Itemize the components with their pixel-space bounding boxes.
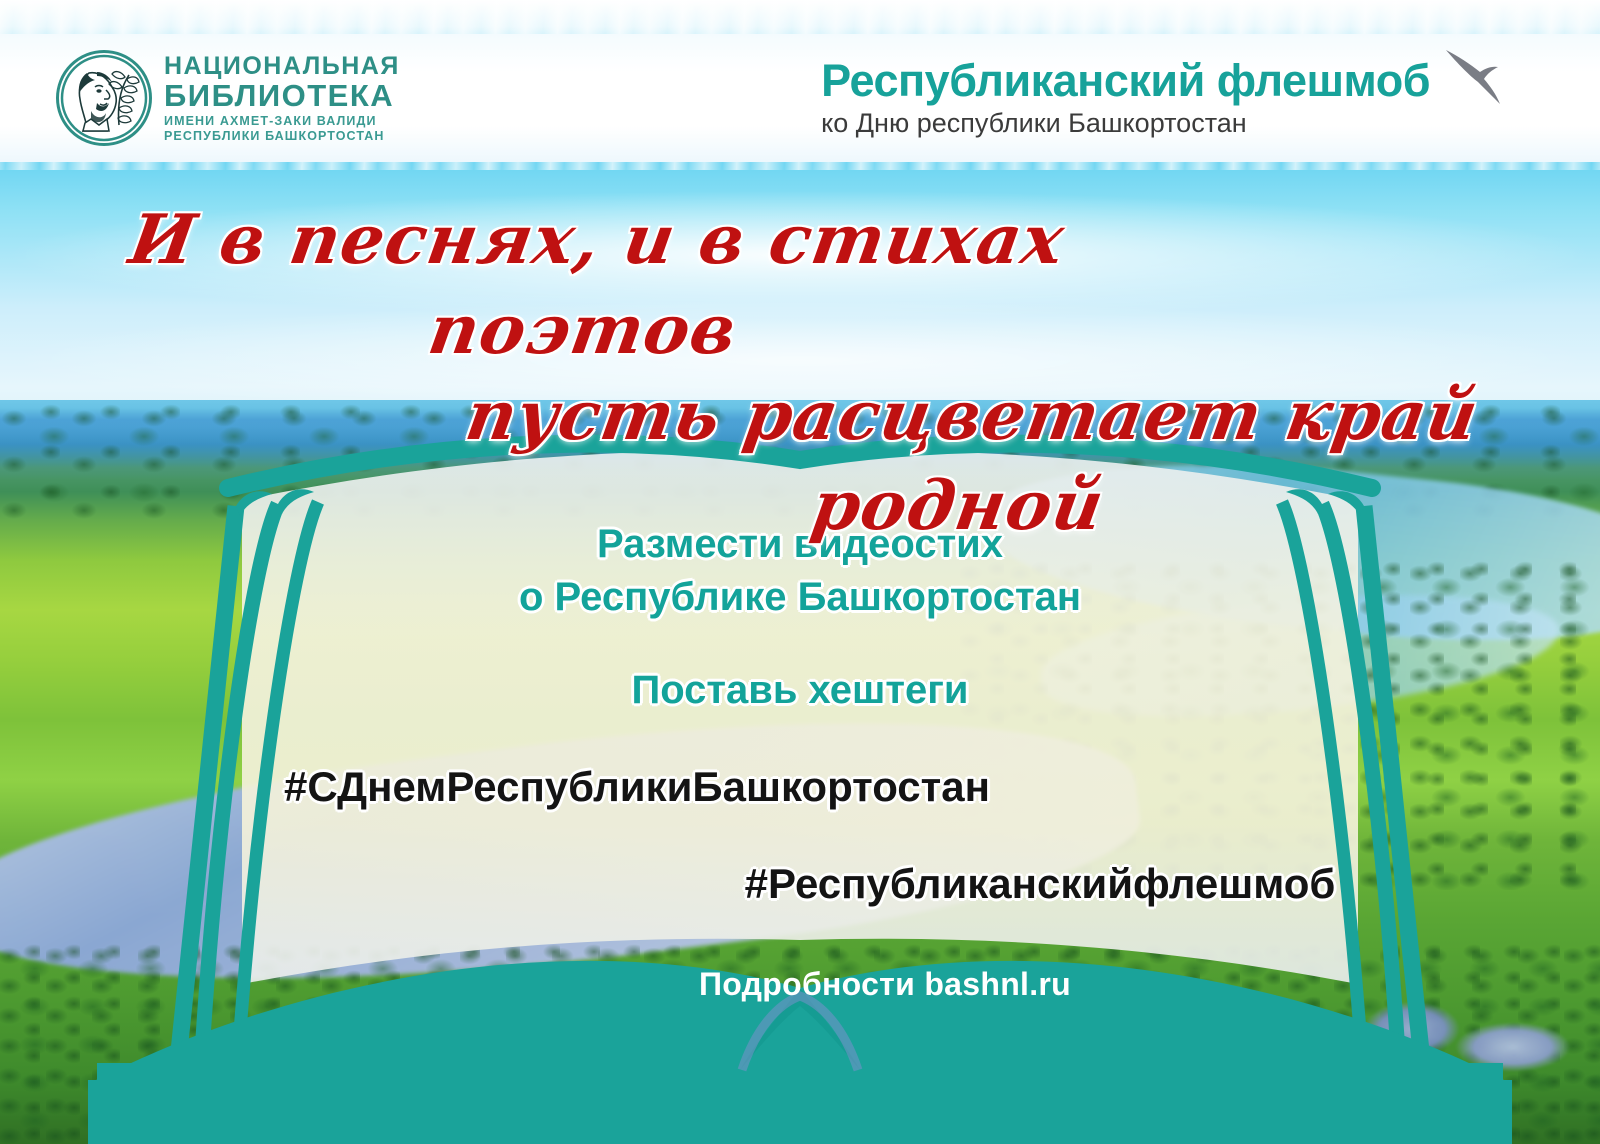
- logo-line-2: БИБЛИОТЕКА: [164, 80, 400, 111]
- call-to-action-line-2: о Республике Башкортостан: [0, 571, 1600, 624]
- hashtag-flashmob: #Республиканскийфлешмоб: [0, 857, 1600, 912]
- bird-silhouette-icon: [1442, 42, 1522, 108]
- text-spacer: [0, 624, 1600, 664]
- headline-line-1: И в песнях, и в стихах поэтов: [0, 196, 1600, 376]
- logo-line-3: ИМЕНИ АХМЕТ-ЗАКИ ВАЛИДИ: [164, 115, 400, 128]
- event-subtitle: ко Дню республики Башкортостан: [821, 109, 1430, 139]
- hashtag-republic-day: #СДнемРеспубликиБашкортостан: [0, 760, 1600, 815]
- poster-footer: Подробности bashnl.ru: [0, 966, 1600, 1003]
- library-logo: НАЦИОНАЛЬНАЯ БИБЛИОТЕКА ИМЕНИ АХМЕТ-ЗАКИ…: [0, 50, 400, 146]
- header-bar: НАЦИОНАЛЬНАЯ БИБЛИОТЕКА ИМЕНИ АХМЕТ-ЗАКИ…: [0, 34, 1600, 162]
- library-emblem-icon: [56, 50, 152, 146]
- logo-line-4: РЕСПУБЛИКИ БАШКОРТОСТАН: [164, 130, 400, 143]
- poetic-headline: И в песнях, и в стихах поэтов пусть расц…: [0, 196, 1600, 551]
- hashtag-prompt: Поставь хештеги: [0, 664, 1600, 717]
- poster-body-text: Размести видеостих о Республике Башкорто…: [0, 518, 1600, 912]
- event-title: Республиканский флешмоб: [821, 57, 1430, 104]
- logo-line-1: НАЦИОНАЛЬНАЯ: [164, 54, 400, 79]
- library-logo-text: НАЦИОНАЛЬНАЯ БИБЛИОТЕКА ИМЕНИ АХМЕТ-ЗАКИ…: [164, 54, 400, 142]
- poster-canvas: НАЦИОНАЛЬНАЯ БИБЛИОТЕКА ИМЕНИ АХМЕТ-ЗАКИ…: [0, 0, 1600, 1144]
- headline-line-2: пусть расцветает край родной: [0, 372, 1600, 552]
- details-link[interactable]: Подробности bashnl.ru: [529, 966, 1071, 1003]
